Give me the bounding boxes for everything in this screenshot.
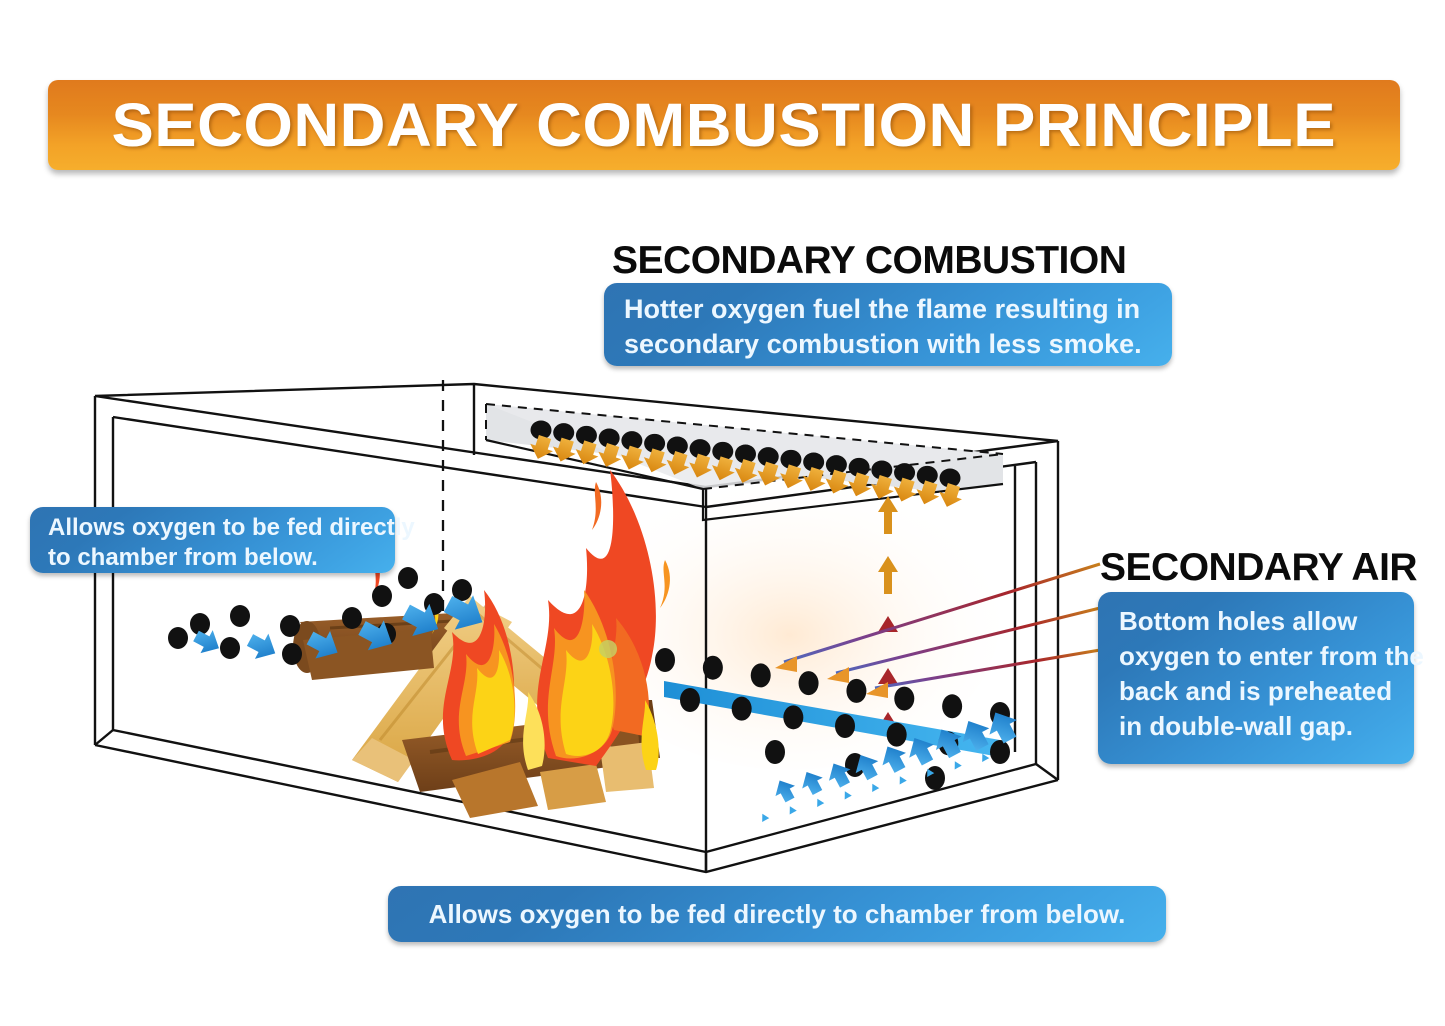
air-hole (783, 705, 803, 729)
callout-line: Allows oxygen to be fed directly to cham… (429, 899, 1126, 930)
primary-air-arrow (841, 788, 856, 804)
primary-air-arrow (770, 775, 800, 805)
primary-air-arrow (814, 796, 829, 812)
air-hole (942, 694, 962, 718)
callout-line: Bottom holes allow (1119, 604, 1414, 639)
callout-line: Hotter oxygen fuel the flame resulting i… (624, 292, 1158, 327)
primary-air-arrow (243, 627, 282, 666)
heading-secondary-air: SECONDARY AIR (1100, 546, 1417, 590)
air-hole (799, 671, 819, 695)
air-hole (765, 740, 785, 764)
air-hole (168, 627, 188, 649)
callout-line: in double-wall gap. (1119, 709, 1414, 744)
air-hole (894, 687, 914, 711)
air-hole (282, 643, 302, 665)
air-hole (680, 688, 700, 712)
air-hole (751, 663, 771, 687)
primary-air-arrow (759, 811, 774, 827)
air-hole (655, 648, 675, 672)
primary-air-arrow (896, 773, 911, 789)
air-hole (342, 607, 362, 629)
air-hole (398, 567, 418, 589)
primary-air-arrow (869, 781, 884, 797)
primary-air-arrow (951, 758, 966, 774)
air-hole (280, 615, 300, 637)
air-hole (732, 697, 752, 721)
air-hole (835, 714, 855, 738)
title-banner: SECONDARY COMBUSTION PRINCIPLE (48, 80, 1400, 170)
air-hole (887, 723, 907, 747)
secondary-combustion-callout: Hotter oxygen fuel the flame resulting i… (604, 283, 1172, 366)
primary-air-arrow (796, 767, 827, 798)
heading-secondary-combustion: SECONDARY COMBUSTION (612, 239, 1126, 283)
air-hole (846, 679, 866, 703)
air-hole (372, 585, 392, 607)
callout-line: back and is preheated (1119, 674, 1414, 709)
primary-air-arrow (786, 803, 801, 819)
air-hole (703, 656, 723, 680)
secondary-air-callout: Bottom holes allow oxygen to enter from … (1098, 592, 1414, 764)
air-hole (230, 605, 250, 627)
bottom-air-callout: Allows oxygen to be fed directly to cham… (388, 886, 1166, 942)
air-hole (220, 637, 240, 659)
callout-line: secondary combustion with less smoke. (624, 327, 1158, 362)
page-title: SECONDARY COMBUSTION PRINCIPLE (112, 90, 1337, 160)
callout-line: to chamber from below. (48, 543, 395, 573)
air-hole (990, 740, 1010, 764)
primary-air-callout: Allows oxygen to be fed directly to cham… (30, 507, 395, 573)
callout-line: Allows oxygen to be fed directly (48, 513, 395, 543)
callout-line: oxygen to enter from the (1119, 639, 1414, 674)
